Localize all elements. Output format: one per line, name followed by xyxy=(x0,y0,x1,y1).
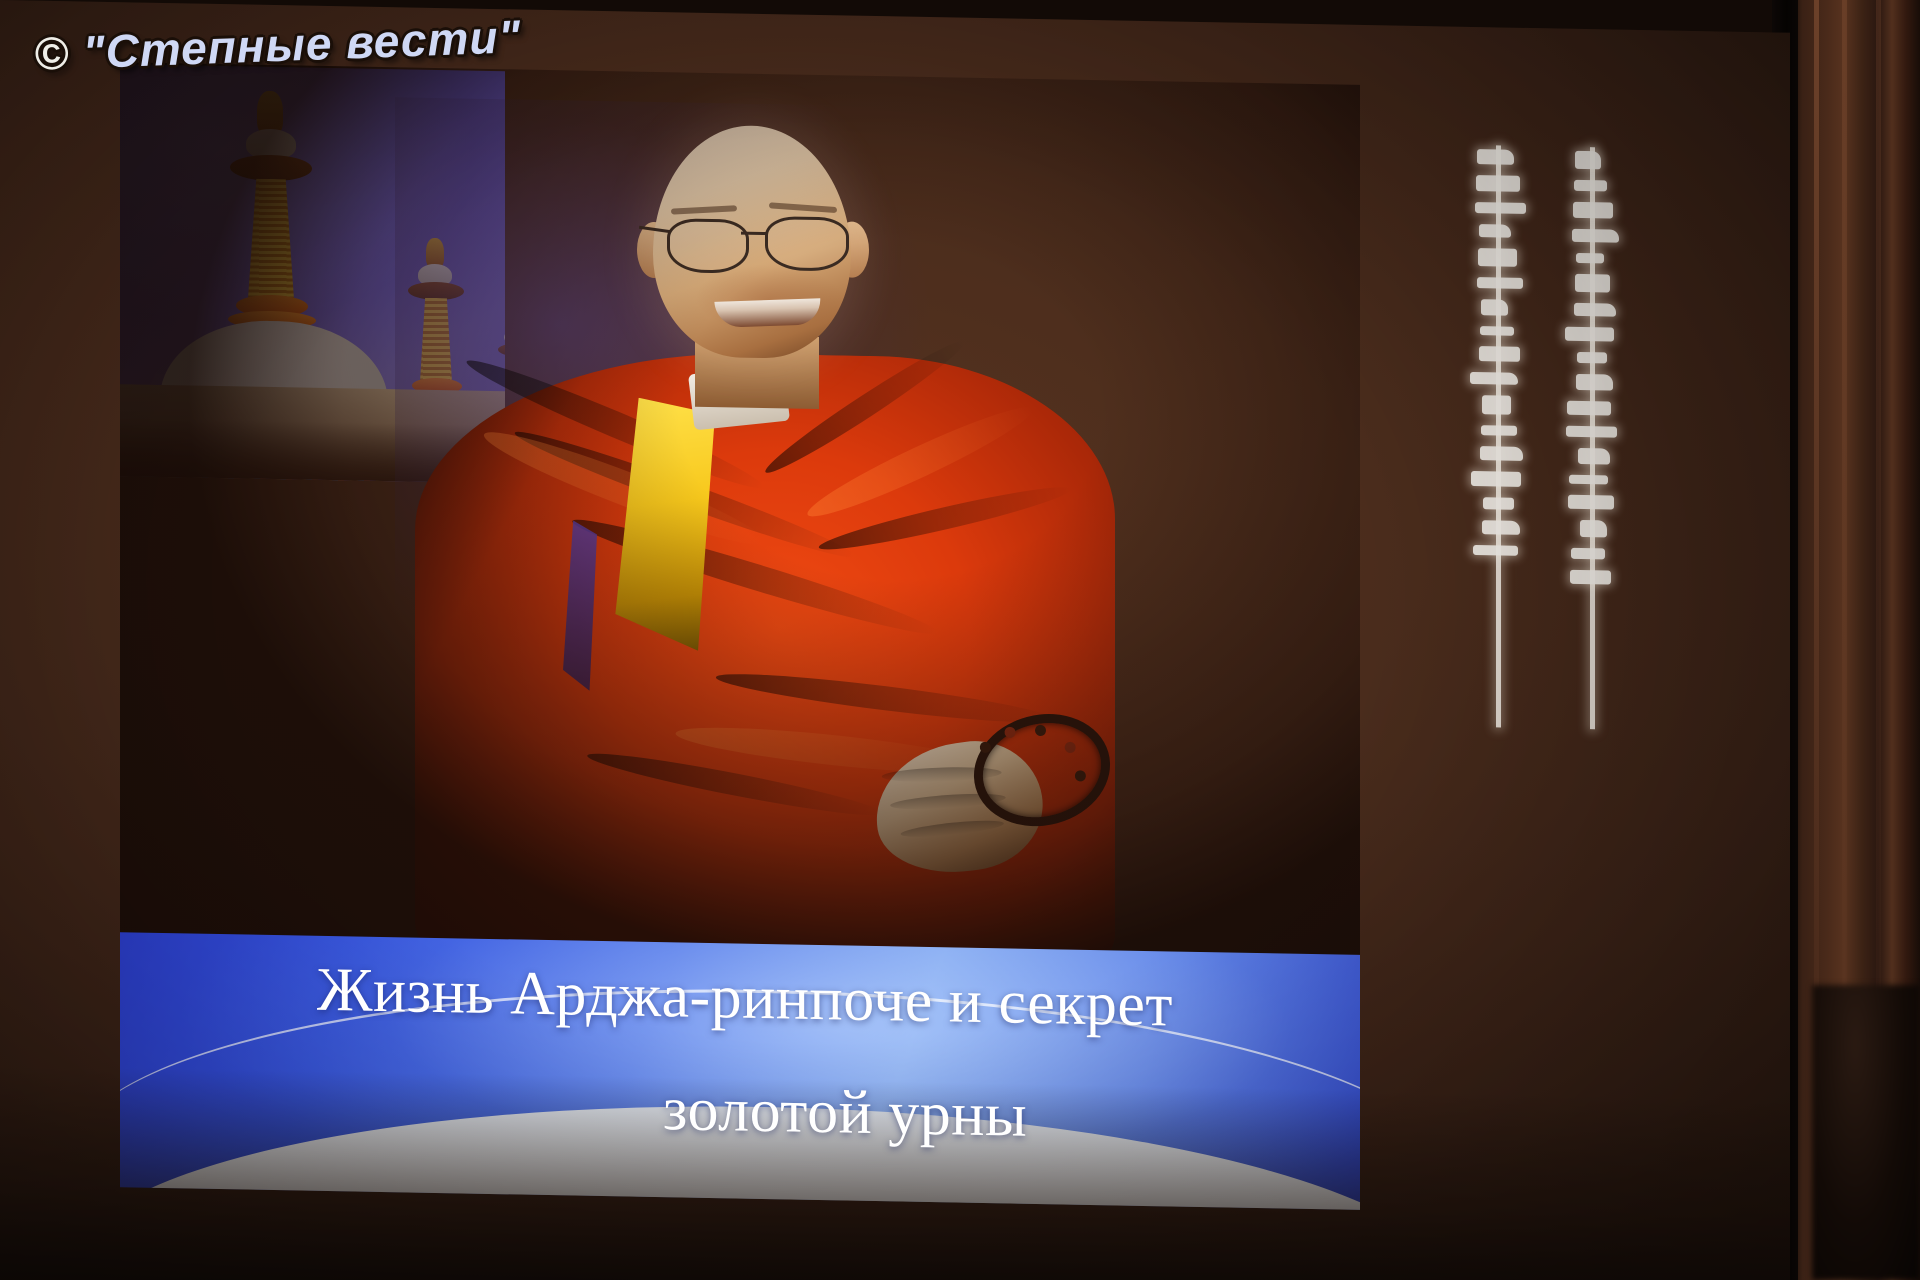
mongolian-glyph xyxy=(1477,277,1523,289)
mongolian-glyph xyxy=(1567,401,1611,415)
copyright-icon: © xyxy=(33,27,70,80)
monk-robe xyxy=(415,348,1115,971)
mongolian-glyph xyxy=(1481,425,1517,436)
mongolian-glyph xyxy=(1568,495,1614,509)
mongolian-glyph xyxy=(1580,520,1607,538)
glasses-lens-right xyxy=(765,216,849,272)
mongolian-column-1 xyxy=(1552,146,1632,729)
glasses-lens-left xyxy=(667,218,749,274)
mongolian-glyph xyxy=(1482,395,1511,414)
mongolian-glyph xyxy=(1575,273,1610,292)
mongolian-glyph xyxy=(1476,175,1520,192)
mongolian-glyph xyxy=(1570,570,1611,585)
mongolian-column-2 xyxy=(1458,145,1538,728)
mongolian-glyph xyxy=(1569,475,1608,485)
glasses-bridge xyxy=(741,232,767,235)
mongolian-glyph xyxy=(1481,299,1508,315)
mongolian-glyph xyxy=(1480,446,1523,460)
mongolian-glyph xyxy=(1577,352,1607,363)
mongolian-glyph xyxy=(1571,548,1605,559)
mongolian-glyph xyxy=(1478,248,1517,266)
title-banner: Жизнь Арджа-ринпоче и секрет золотой урн… xyxy=(120,932,1360,1210)
mongolian-glyph xyxy=(1480,326,1514,336)
mongolian-glyph xyxy=(1479,224,1511,238)
mongolian-glyph xyxy=(1566,426,1617,438)
mongolian-glyph xyxy=(1473,545,1518,555)
monk-portrait xyxy=(395,97,1135,971)
mongolian-glyph xyxy=(1573,202,1613,218)
mongolian-glyph xyxy=(1576,253,1604,263)
presentation-slide: Жизнь Арджа-ринпоче и секрет золотой урн… xyxy=(0,0,1790,1280)
mongolian-glyph xyxy=(1574,180,1607,192)
room-foreground-object xyxy=(1812,985,1920,1280)
slide-title-line-2: золотой урны xyxy=(120,1067,1360,1155)
mongolian-glyph xyxy=(1574,303,1616,316)
slide-title-line-1: Жизнь Арджа-ринпоче и секрет xyxy=(120,954,1360,1042)
mongolian-glyph xyxy=(1475,202,1526,213)
screenshot-stage: Жизнь Арджа-ринпоче и секрет золотой урн… xyxy=(0,0,1920,1280)
mongolian-glyph xyxy=(1470,372,1518,385)
mongolian-glyph xyxy=(1575,151,1601,169)
mongolian-glyph xyxy=(1565,326,1614,341)
mongolian-glyph xyxy=(1479,346,1520,361)
mongolian-glyph xyxy=(1576,374,1613,391)
projection-screen: Жизнь Арджа-ринпоче и секрет золотой урн… xyxy=(0,0,1790,1280)
mongolian-glyph xyxy=(1482,520,1520,535)
mongolian-vertical-script xyxy=(1442,144,1632,725)
mongolian-glyph xyxy=(1471,471,1521,488)
title-text-block: Жизнь Арджа-ринпоче и секрет золотой урн… xyxy=(120,932,1360,1210)
mongolian-glyph xyxy=(1572,229,1619,243)
mongolian-glyph xyxy=(1477,149,1514,164)
mongolian-glyph xyxy=(1578,448,1610,464)
mongolian-glyph xyxy=(1483,498,1514,510)
